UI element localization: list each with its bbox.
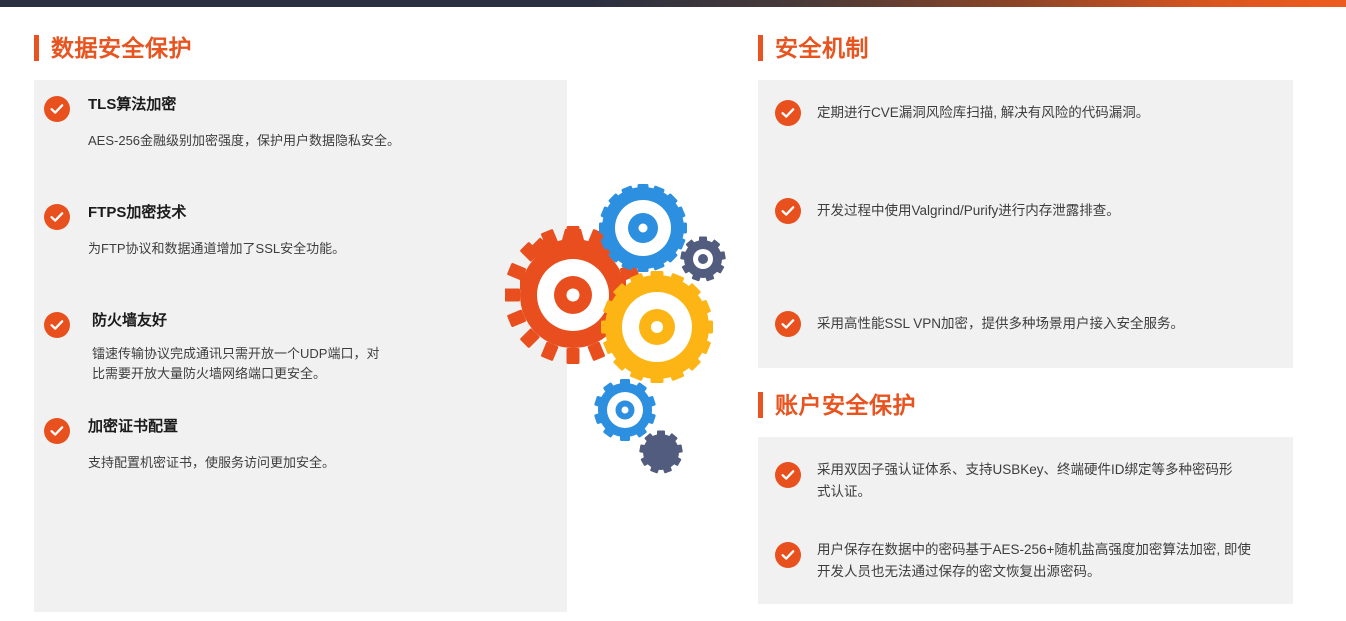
check-circle-icon [775,198,801,224]
feature-title: 防火墙友好 [92,312,167,329]
security-item-text: 定期进行CVE漏洞风险库扫描, 解决有风险的代码漏洞。 [817,103,1149,124]
security-item-valgrind[interactable]: 开发过程中使用Valgrind/Purify进行内存泄露排查。 [775,198,1275,224]
check-circle-icon [44,204,70,230]
check-circle-icon [44,96,70,122]
check-circle-icon [775,100,801,126]
feature-description: 支持配置机密证书，使服务访问更加安全。 [88,453,335,473]
feature-item-tls[interactable]: TLS算法加密 AES-256金融级别加密强度，保护用户数据隐私安全。 [44,96,544,151]
yellow-large-gear [601,271,713,383]
gears-cluster-illustration [505,160,740,490]
feature-description: 为FTP协议和数据通道增加了SSL安全功能。 [88,239,345,259]
section-title-security-mechanism: 安全机制 [758,33,869,63]
account-item-password-hash[interactable]: 用户保存在数据中的密码基于AES-256+随机盐高强度加密算法加密, 即使开发人… [775,542,1245,582]
section-title-account-security: 账户安全保护 [758,390,916,420]
check-circle-icon [44,418,70,444]
blue-medium-gear [599,184,687,272]
feature-item-firewall[interactable]: 防火墙友好 镭速传输协议完成通讯只需开放一个UDP端口，对比需要开放大量防火墙网… [44,312,394,384]
section-title-data-security: 数据安全保护 [34,33,192,63]
slate-small-gear [680,237,726,282]
check-circle-icon [775,462,801,488]
account-item-text: 采用双因子强认证体系、支持USBKey、终端硬件ID绑定等多种密码形式认证。 [817,459,1242,502]
security-item-cve-scan[interactable]: 定期进行CVE漏洞风险库扫描, 解决有风险的代码漏洞。 [775,100,1275,126]
feature-title: 加密证书配置 [88,418,178,435]
account-item-text: 用户保存在数据中的密码基于AES-256+随机盐高强度加密算法加密, 即使开发人… [817,539,1259,582]
feature-title: FTPS加密技术 [88,204,186,221]
section-heading: 安全机制 [775,37,869,60]
slide-root: 数据安全保护 TLS算法加密 AES-256金融级别加密强度，保护用户数据隐私安… [0,0,1346,621]
feature-title: TLS算法加密 [88,96,176,113]
feature-description: 镭速传输协议完成通讯只需开放一个UDP端口，对比需要开放大量防火墙网络端口更安全… [92,344,392,384]
account-item-two-factor[interactable]: 采用双因子强认证体系、支持USBKey、终端硬件ID绑定等多种密码形式认证。 [775,462,1235,502]
security-item-ssl-vpn[interactable]: 采用高性能SSL VPN加密，提供多种场景用户接入安全服务。 [775,311,1285,337]
section-heading: 账户安全保护 [775,394,916,417]
top-accent-bar [0,0,1346,7]
feature-item-ftps[interactable]: FTPS加密技术 为FTP协议和数据通道增加了SSL安全功能。 [44,204,544,259]
feature-item-certificate[interactable]: 加密证书配置 支持配置机密证书，使服务访问更加安全。 [44,418,544,473]
security-item-text: 采用高性能SSL VPN加密，提供多种场景用户接入安全服务。 [817,314,1184,335]
feature-description: AES-256金融级别加密强度，保护用户数据隐私安全。 [88,131,400,151]
check-circle-icon [775,542,801,568]
slate-tiny-gear [639,431,683,474]
security-item-text: 开发过程中使用Valgrind/Purify进行内存泄露排查。 [817,201,1120,222]
accent-bar-icon [758,392,763,418]
check-circle-icon [44,312,70,338]
accent-bar-icon [758,35,763,61]
check-circle-icon [775,311,801,337]
accent-bar-icon [34,35,39,61]
page-title: 数据安全保护 [51,37,192,60]
blue-small-gear [594,379,656,441]
